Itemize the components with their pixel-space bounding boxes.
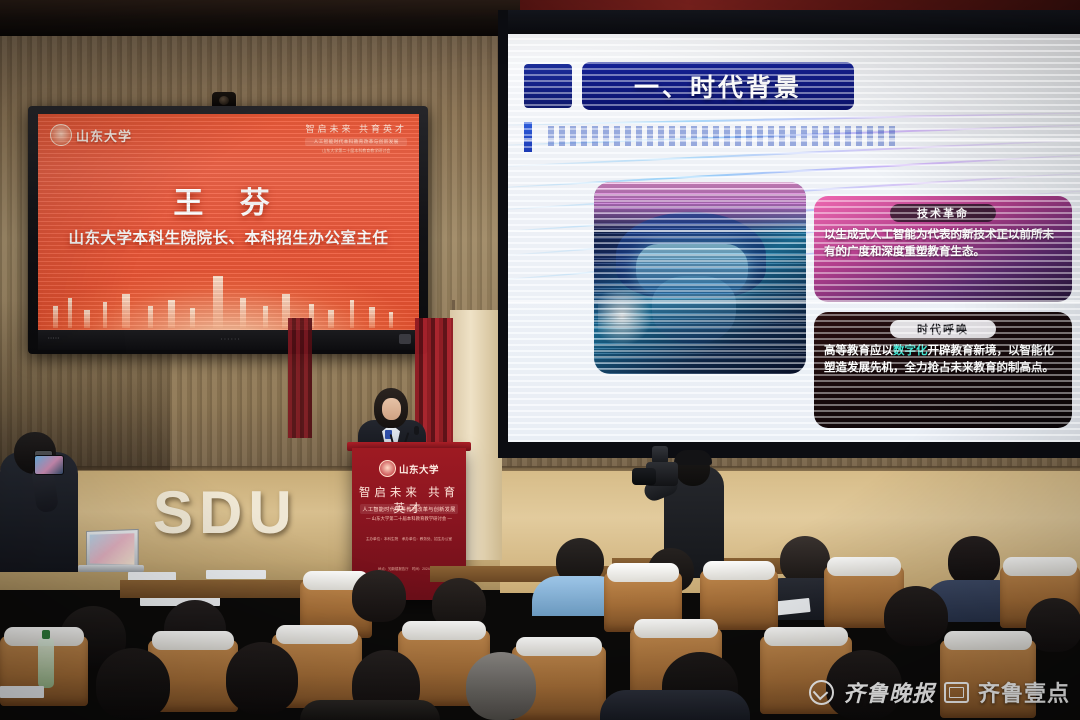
- watermark-brand-2: 齐鲁壹点: [978, 676, 1070, 708]
- section-title-bar: 一、时代背景: [582, 62, 854, 110]
- card-text-highlight: 数字化: [893, 345, 928, 357]
- podium-line4: 主办单位：本科生院 承办单位：教务处、招生办公室: [360, 536, 458, 543]
- seat-headrest: [516, 637, 602, 656]
- slide-subtitle-ghost: [548, 126, 898, 146]
- section-title-chip: [524, 64, 572, 108]
- seat-headrest: [152, 631, 235, 650]
- seat-headrest: [703, 561, 775, 580]
- slide-slogan-line2: 人工智能时代本科教育改革与创新发展: [305, 138, 407, 146]
- sdu-letter-s: S: [153, 487, 193, 539]
- left-display-screen: 山东大学 智启未来 共育英才 人工智能时代本科教育改革与创新发展 山东大学第二十…: [38, 114, 419, 330]
- institution-name: 山东大学: [76, 126, 132, 145]
- slide-photo: [594, 182, 806, 374]
- press-photographer-cap: [674, 450, 712, 465]
- slide-card-technology: 技术革命 以生成式人工智能为代表的新技术正以前所未有的广度和深度重塑教育生态。: [814, 196, 1072, 302]
- audience-head: [948, 536, 1000, 586]
- audience-head: [466, 652, 536, 720]
- water-bottle: [38, 638, 54, 688]
- seat-headrest: [764, 627, 849, 646]
- audience-shoulders: [600, 690, 750, 720]
- photo-glitch-overlay: [594, 182, 806, 374]
- swirl-logo-icon: [809, 680, 834, 705]
- slide-slogan-line1: 智启未来 共育英才: [305, 122, 407, 135]
- sdu-letter-sculpture: S D U: [153, 487, 292, 539]
- seat-headrest: [607, 563, 679, 582]
- speaker-title: 山东大学本科生院院长、本科招生办公室主任: [38, 226, 419, 248]
- card-chip-label: 技术革命: [917, 205, 969, 221]
- podium-line2: 人工智能时代本科教育改革与创新发展: [360, 504, 458, 514]
- podium-logo: 山东大学: [352, 460, 466, 477]
- speaker-face: [382, 398, 401, 420]
- photograph-scene: 山东大学 智启未来 共育英才 人工智能时代本科教育改革与创新发展 山东大学第二十…: [0, 0, 1080, 720]
- podium-institution-name: 山东大学: [399, 462, 439, 476]
- slide-slogan-line3: 山东大学第二十届本科教育教学研讨会: [305, 148, 407, 154]
- ceiling-red-banner: [520, 0, 1080, 10]
- stage-curtain-left: [288, 318, 312, 438]
- podium-line3: — 山东大学第二十届本科教育教学研讨会 —: [360, 516, 458, 522]
- title-underline-accent: [524, 122, 532, 152]
- watermark: 齐鲁晚报 齐鲁壹点: [809, 676, 1070, 708]
- sdu-letter-u: U: [248, 487, 291, 539]
- laptop-base: [78, 565, 144, 572]
- display-port-icon: [399, 334, 411, 344]
- sdu-seal-icon: [379, 460, 396, 477]
- projection-top-shadow: [508, 10, 1080, 36]
- card-chip: 技术革命: [890, 204, 996, 222]
- audience-head: [96, 648, 170, 720]
- front-desk: [120, 580, 320, 598]
- smartphone-icon: [34, 455, 64, 475]
- speaker-name: 王 芬: [38, 178, 419, 222]
- sdu-letter-d: D: [199, 487, 242, 539]
- seat-headrest: [402, 621, 487, 640]
- laptop-screen: [86, 529, 139, 569]
- document-paper: [0, 686, 44, 698]
- projection-slide: 一、时代背景 技术革命 以生成式人工智能为代表的新技术正以前所未有的广度和深度重…: [508, 34, 1080, 442]
- display-control-bar: ••••• ••••••: [38, 330, 419, 350]
- slide-card-call-of-era: 时代呼唤 高等教育应以数字化开辟教育新境，以智能化塑造发展先机，全力抢占未来教育…: [814, 312, 1072, 428]
- document-paper: [206, 570, 266, 579]
- card-body-text: 以生成式人工智能为代表的新技术正以前所未有的广度和深度重塑教育生态。: [824, 227, 1062, 261]
- watermark-brand-1: 齐鲁晚报: [843, 676, 935, 708]
- display-model-label: ••••••: [221, 336, 241, 341]
- slide-skyline-graphic: [38, 258, 419, 328]
- camera-lens-icon: [632, 468, 656, 485]
- seat-headrest: [634, 619, 719, 638]
- card-chip-label: 时代呼唤: [917, 321, 969, 337]
- microphone-head: [414, 426, 419, 435]
- slide-slogan-block: 智启未来 共育英才 人工智能时代本科教育改革与创新发展 山东大学第二十届本科教育…: [305, 122, 407, 154]
- audience-head: [352, 570, 406, 622]
- card-body-text: 高等教育应以数字化开辟教育新境，以智能化塑造发展先机，全力抢占未来教育的制高点。: [824, 343, 1062, 377]
- audience-head: [226, 642, 298, 714]
- section-title: 一、时代背景: [634, 68, 802, 104]
- seat-headrest: [276, 625, 359, 644]
- card-chip: 时代呼唤: [890, 320, 996, 338]
- sdu-logo: 山东大学: [50, 124, 132, 146]
- seat-headrest: [944, 631, 1032, 650]
- app-logo-icon: [944, 682, 969, 703]
- audience-head: [884, 586, 948, 646]
- display-brand-label: •••••: [48, 335, 60, 340]
- seat-headrest: [1003, 557, 1077, 576]
- card-text-before: 高等教育应以: [824, 345, 893, 357]
- audience-shoulders: [300, 700, 440, 720]
- sdu-seal-icon: [50, 124, 72, 146]
- seat-headrest: [827, 557, 901, 576]
- audience-head: [780, 536, 830, 584]
